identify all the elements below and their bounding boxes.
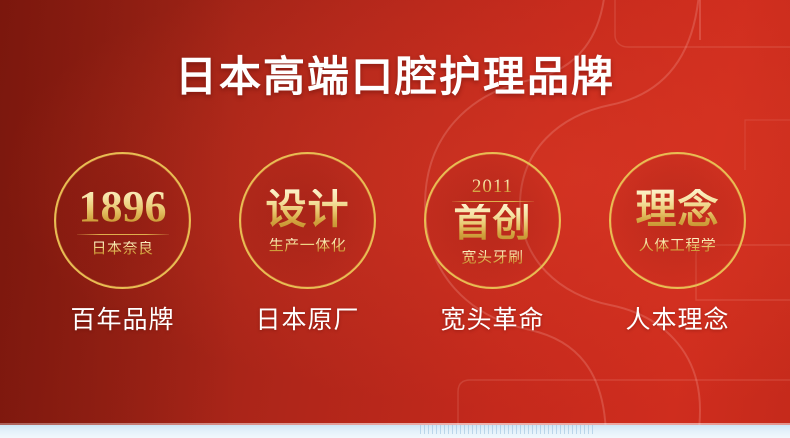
bottom-bristle-strip: [0, 425, 790, 438]
bristle-texture: [420, 425, 595, 434]
badge-sub-label: 宽头牙刷: [461, 250, 523, 265]
badge-caption: 百年品牌: [54, 306, 191, 334]
badge-caption: 人本理念: [609, 306, 746, 334]
badge-main-text: 首创: [453, 201, 531, 245]
badge-sub-label: 生产一体化: [269, 238, 347, 253]
badge-main-label: 1896: [79, 185, 167, 229]
page-title: 日本高端口腔护理品牌: [0, 56, 790, 98]
badge-main-label: 设计: [266, 189, 350, 230]
badge-caption-row: 百年品牌 日本原厂 宽头革命 人本理念: [0, 303, 790, 337]
badge-sub-label: 人体工程学: [639, 238, 717, 253]
badge-main-label: 理念: [636, 189, 720, 230]
badge-circle-row: 1896 日本奈良 设计 生产一体化 2011 首创2 宽头牙刷: [0, 152, 790, 292]
badge-circle-1896: 1896 日本奈良: [54, 152, 191, 289]
badge-sub-label: 日本奈良: [91, 241, 153, 256]
badge-divider: [77, 234, 169, 235]
promo-banner: 日本高端口腔护理品牌 1896 日本奈良 设计 生产一体化 2011: [0, 0, 790, 438]
badge-top-label: 2011: [472, 177, 513, 196]
badge-caption: 日本原厂: [239, 306, 376, 334]
badge-circle-concept: 理念 人体工程学: [609, 152, 746, 289]
badge-circle-first-2011: 2011 首创2 宽头牙刷: [424, 152, 561, 289]
badge-superscript: 2: [537, 206, 545, 217]
badge-circle-design: 设计 生产一体化: [239, 152, 376, 289]
badge-caption: 宽头革命: [424, 306, 561, 334]
badge-main-label: 首创2: [453, 204, 531, 242]
